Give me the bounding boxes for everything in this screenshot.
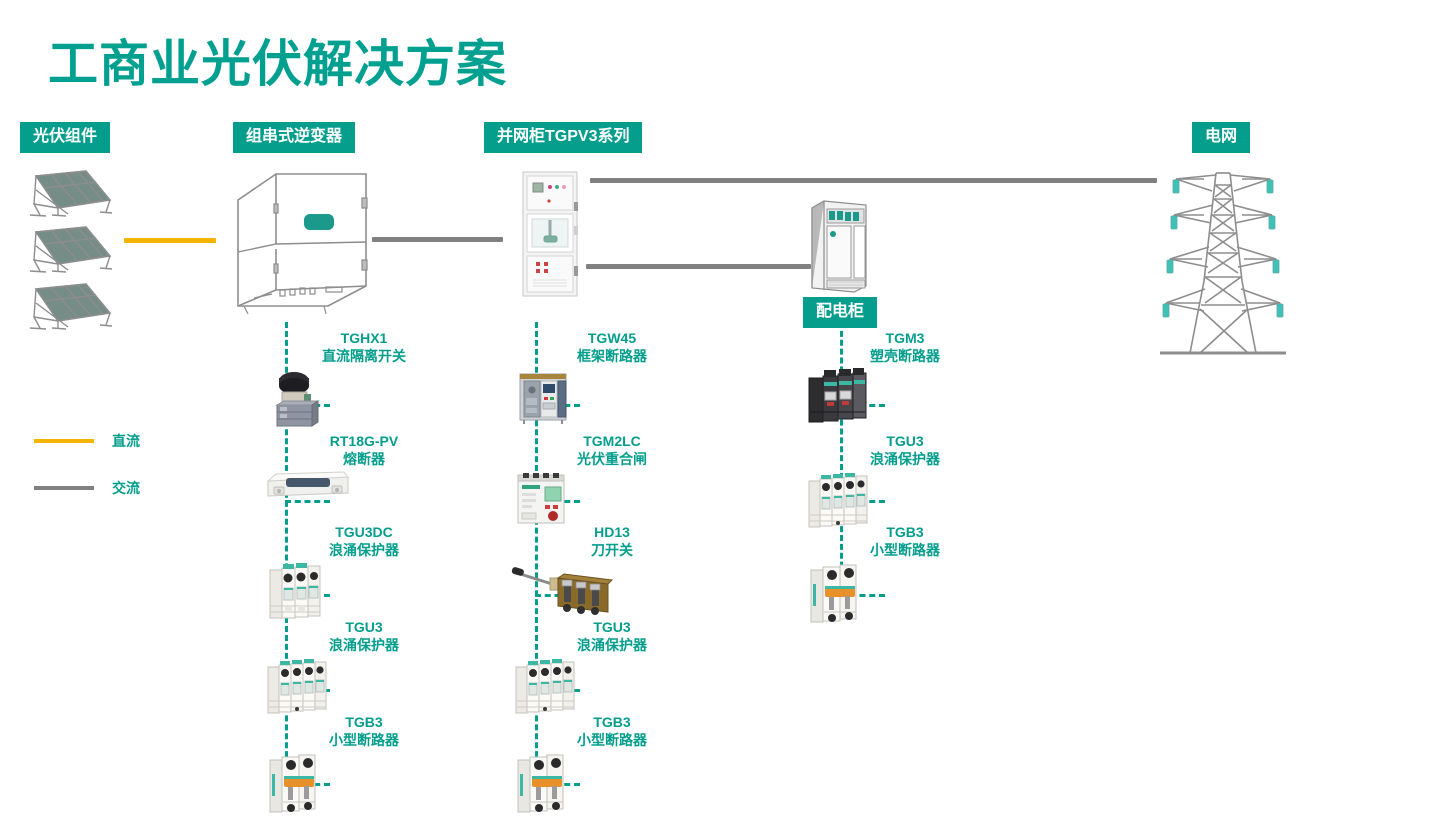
component-code: RT18G-PV	[264, 433, 464, 451]
pv-recloser-icon	[512, 471, 712, 527]
knife-switch-icon	[512, 562, 712, 616]
miniature-circuit-breaker-icon	[805, 562, 1005, 624]
component-code: TGW45	[512, 330, 712, 348]
component-tgb3[interactable]: TGB3 小型断路器	[264, 714, 464, 814]
component-code: TGU3	[264, 619, 464, 637]
distribution-cabinet-illustration	[808, 198, 872, 294]
legend-label-ac: 交流	[112, 478, 140, 498]
miniature-circuit-breaker-icon	[512, 752, 712, 814]
component-code: HD13	[512, 524, 712, 542]
component-code: TGU3	[512, 619, 712, 637]
legend-item-ac: 交流	[34, 478, 140, 498]
component-code: TGB3	[512, 714, 712, 732]
transmission-tower-illustration	[1160, 163, 1286, 355]
component-desc: 小型断路器	[264, 732, 464, 750]
legend-swatch-ac	[34, 486, 94, 490]
component-code: TGB3	[805, 524, 1005, 542]
component-code: TGB3	[264, 714, 464, 732]
component-tgb3[interactable]: TGB3 小型断路器	[805, 524, 1005, 624]
component-tgu3[interactable]: TGU3 浪涌保护器	[264, 619, 464, 717]
component-code: TGU3	[805, 433, 1005, 451]
component-desc: 直流隔离开关	[264, 348, 464, 366]
page-title: 工商业光伏解决方案	[48, 24, 507, 96]
surge-protector-3p-icon	[264, 562, 464, 622]
dc-flow-line-panels-to-inverter	[124, 238, 216, 243]
badge-string-inverter: 组串式逆变器	[233, 122, 355, 153]
air-circuit-breaker-icon	[512, 368, 712, 426]
component-desc: 浪涌保护器	[512, 637, 712, 655]
ac-flow-line-grid-cabinet-to-distribution	[586, 264, 811, 269]
fuse-icon	[264, 471, 464, 501]
component-desc: 熔断器	[264, 451, 464, 469]
component-code: TGU3DC	[264, 524, 464, 542]
component-desc: 塑壳断路器	[805, 348, 1005, 366]
component-tgm2lc[interactable]: TGM2LC 光伏重合闸	[512, 433, 712, 527]
string-inverter-illustration	[232, 168, 372, 308]
component-tgu3dc[interactable]: TGU3DC 浪涌保护器	[264, 524, 464, 622]
grid-connection-cabinet-illustration	[520, 170, 580, 298]
component-desc: 小型断路器	[805, 542, 1005, 560]
component-tgm3[interactable]: TGM3 塑壳断路器	[805, 330, 1005, 426]
component-tgu3[interactable]: TGU3 浪涌保护器	[512, 619, 712, 717]
molded-case-circuit-breaker-icon	[805, 368, 1005, 426]
component-rt18g-pv[interactable]: RT18G-PV 熔断器	[264, 433, 464, 501]
component-desc: 浪涌保护器	[264, 637, 464, 655]
legend-label-dc: 直流	[112, 431, 140, 451]
surge-protector-4p-icon	[264, 657, 464, 717]
legend-item-dc: 直流	[34, 431, 140, 451]
component-desc: 刀开关	[512, 542, 712, 560]
dc-isolator-switch-icon	[264, 368, 464, 430]
miniature-circuit-breaker-icon	[264, 752, 464, 814]
ac-flow-line-grid-cabinet-to-tower	[590, 178, 1157, 183]
solar-panel-array-2	[24, 224, 114, 276]
component-tghx1[interactable]: TGHX1 直流隔离开关	[264, 330, 464, 430]
component-tgu3[interactable]: TGU3 浪涌保护器	[805, 433, 1005, 531]
badge-grid-cabinet: 并网柜TGPV3系列	[484, 122, 642, 153]
component-code: TGM2LC	[512, 433, 712, 451]
surge-protector-4p-icon	[805, 471, 1005, 531]
ac-flow-line-inverter-to-grid-cabinet	[372, 237, 503, 242]
component-code: TGHX1	[264, 330, 464, 348]
component-desc: 框架断路器	[512, 348, 712, 366]
component-desc: 小型断路器	[512, 732, 712, 750]
component-tgb3[interactable]: TGB3 小型断路器	[512, 714, 712, 814]
badge-pv-modules: 光伏组件	[20, 122, 110, 153]
solar-panel-array-1	[24, 168, 114, 220]
badge-power-grid: 电网	[1192, 122, 1250, 153]
component-desc: 浪涌保护器	[264, 542, 464, 560]
component-code: TGM3	[805, 330, 1005, 348]
component-desc: 浪涌保护器	[805, 451, 1005, 469]
solar-panel-array-3	[24, 281, 114, 333]
component-hd13[interactable]: HD13 刀开关	[512, 524, 712, 616]
legend-swatch-dc	[34, 439, 94, 443]
surge-protector-4p-icon	[512, 657, 712, 717]
component-desc: 光伏重合闸	[512, 451, 712, 469]
diagram-canvas: 工商业光伏解决方案 光伏组件 组串式逆变器 并网柜TGPV3系列 配电柜 电网	[0, 0, 1436, 829]
component-tgw45[interactable]: TGW45 框架断路器	[512, 330, 712, 426]
